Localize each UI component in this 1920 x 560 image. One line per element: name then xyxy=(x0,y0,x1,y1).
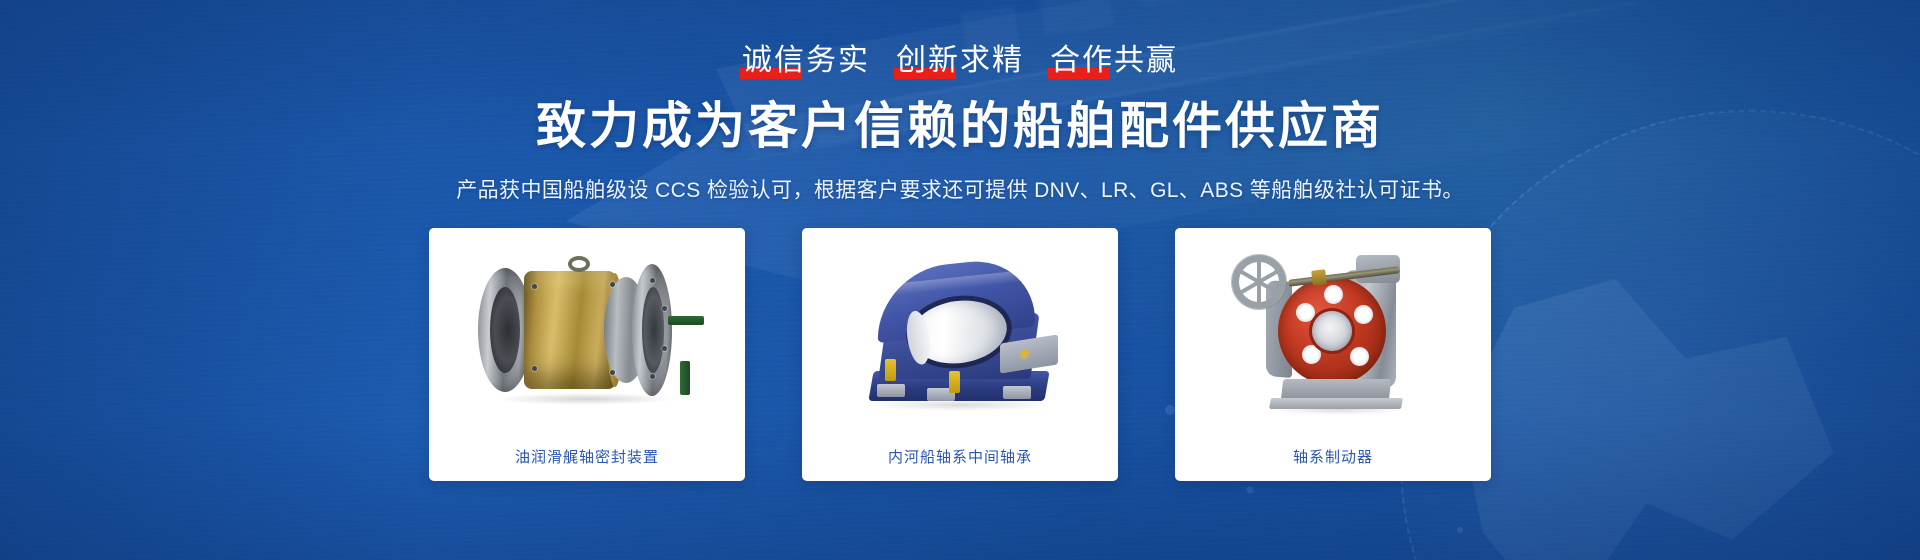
banner-content: 诚信务实 创新求精 合作共赢 致力成为客户信赖的船舶配件供应商 产品获中国船舶级… xyxy=(0,0,1920,560)
product-card-brake[interactable]: 轴系制动器 xyxy=(1175,228,1491,481)
tagline-text-3: 合作共赢 xyxy=(1050,44,1178,77)
product-card-bearing[interactable]: 内河船轴系中间轴承 xyxy=(802,228,1118,481)
product-caption-bearing: 内河船轴系中间轴承 xyxy=(802,431,1118,481)
tagline-text-1: 诚信务实 xyxy=(742,44,870,77)
page-title: 致力成为客户信赖的船舶配件供应商 xyxy=(536,99,1384,154)
intermediate-bearing-illustration xyxy=(853,255,1068,405)
tagline-text-2: 创新求精 xyxy=(896,44,1024,77)
tagline-group-2: 创新求精 xyxy=(896,46,1024,76)
product-image-bearing xyxy=(802,228,1118,431)
product-card-seal[interactable]: 油润滑艉轴密封装置 xyxy=(429,228,745,481)
stern-shaft-seal-illustration xyxy=(472,262,702,397)
tagline: 诚信务实 创新求精 合作共赢 xyxy=(742,46,1178,76)
hero-banner: 诚信务实 创新求精 合作共赢 致力成为客户信赖的船舶配件供应商 产品获中国船舶级… xyxy=(0,0,1920,560)
product-card-list: 油润滑艉轴密封装置 xyxy=(429,228,1491,481)
product-caption-seal: 油润滑艉轴密封装置 xyxy=(429,431,745,481)
tagline-group-1: 诚信务实 xyxy=(742,46,870,76)
product-image-seal xyxy=(429,228,745,431)
shaft-brake-illustration xyxy=(1226,251,1441,409)
subtitle: 产品获中国船舶级设 CCS 检验认可，根据客户要求还可提供 DNV、LR、GL、… xyxy=(456,174,1464,204)
product-caption-brake: 轴系制动器 xyxy=(1175,431,1491,481)
product-image-brake xyxy=(1175,228,1491,431)
tagline-group-3: 合作共赢 xyxy=(1050,46,1178,76)
